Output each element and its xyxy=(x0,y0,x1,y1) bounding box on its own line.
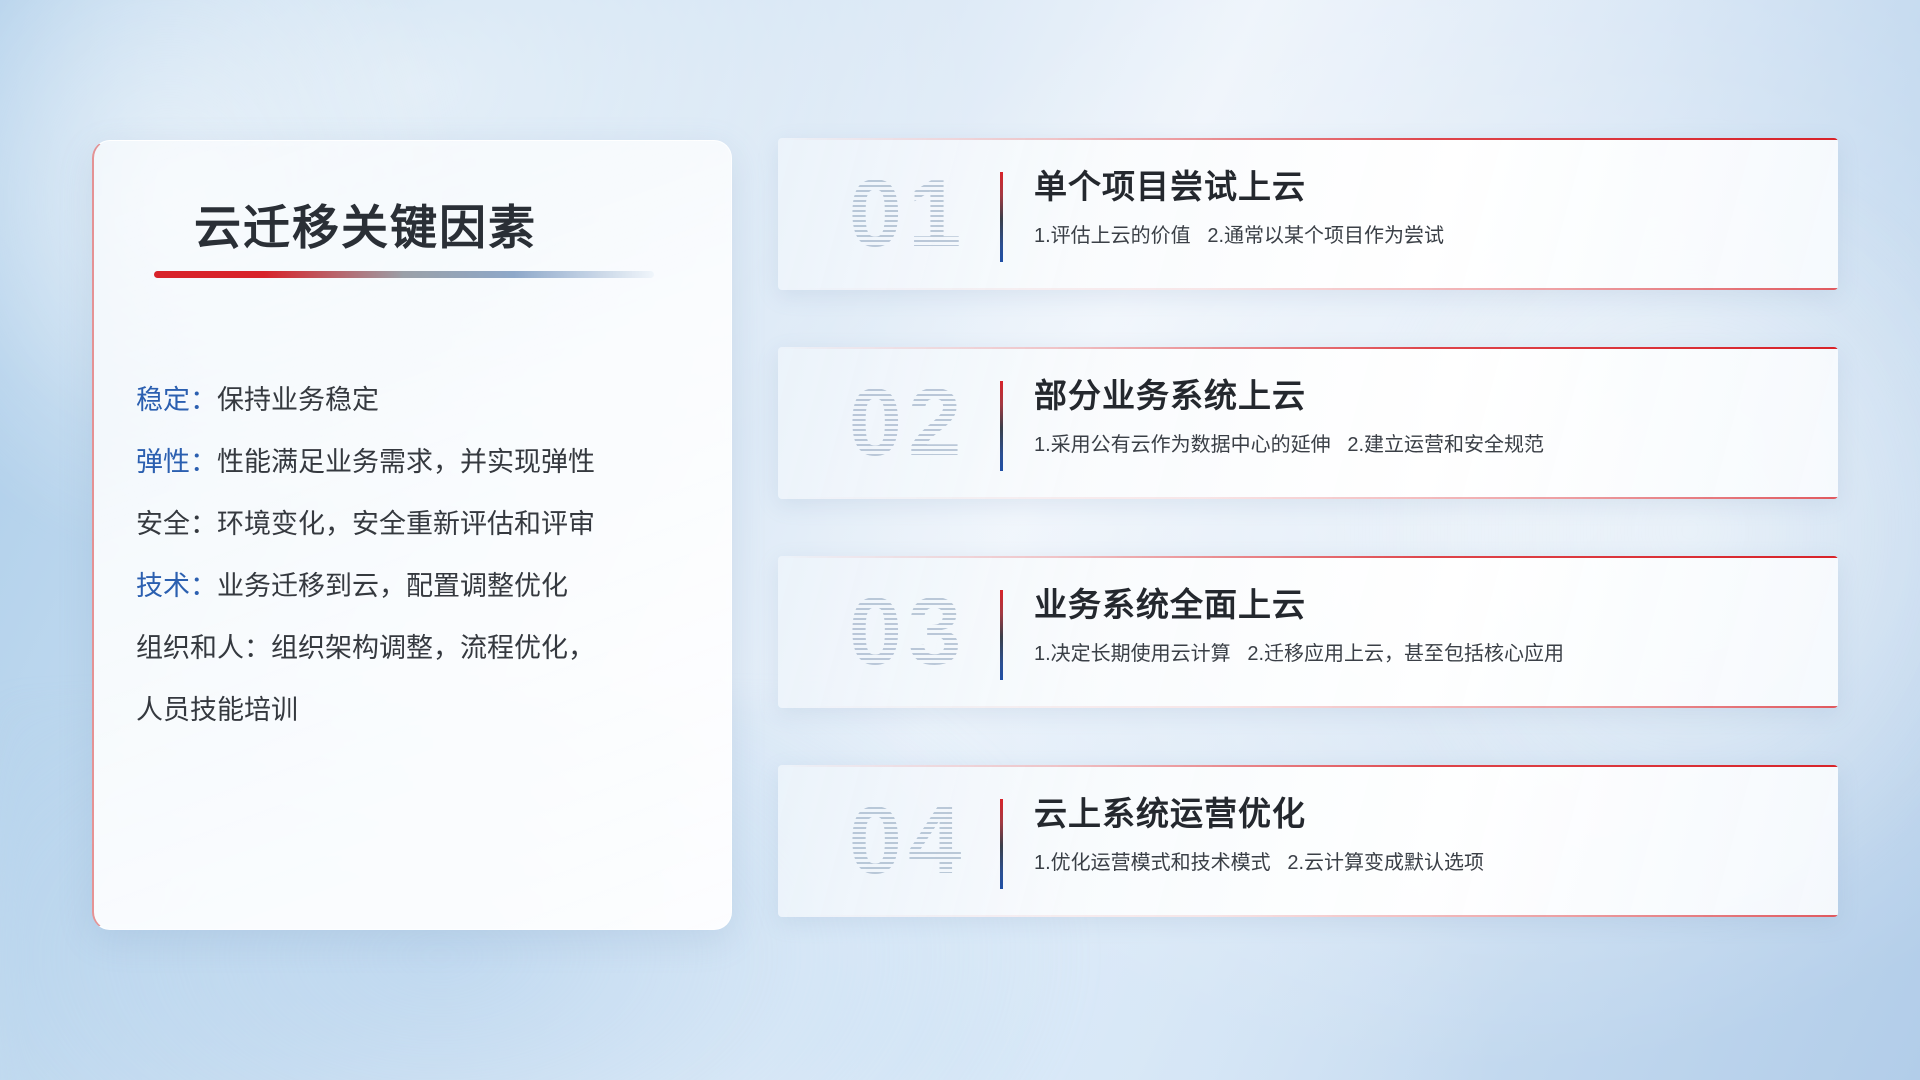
step-number-watermark: 02 xyxy=(808,359,1008,487)
card-bottom-accent-rule xyxy=(778,706,1838,708)
step-description: 1.采用公有云作为数据中心的延伸 2.建立运营和安全规范 xyxy=(1034,431,1814,459)
key-factors-panel: 云迁移关键因素 稳定：保持业务稳定弹性：性能满足业务需求，并实现弹性安全：环境变… xyxy=(92,140,732,930)
card-body: 单个项目尝试上云1.评估上云的价值 2.通常以某个项目作为尝试 xyxy=(1034,164,1814,250)
card-body: 部分业务系统上云1.采用公有云作为数据中心的延伸 2.建立运营和安全规范 xyxy=(1034,373,1814,459)
key-factor-label: 组织和人： xyxy=(136,633,271,663)
key-factor-label: 技术： xyxy=(136,571,217,601)
key-factor-text: 保持业务稳定 xyxy=(217,385,379,415)
key-factor-row: 弹性：性能满足业务需求，并实现弹性 xyxy=(136,431,707,493)
key-factor-label: 弹性： xyxy=(136,447,217,477)
card-divider-bar xyxy=(1000,799,1003,889)
card-body: 业务系统全面上云1.决定长期使用云计算 2.迁移应用上云，甚至包括核心应用 xyxy=(1034,582,1814,668)
step-title: 部分业务系统上云 xyxy=(1034,373,1814,419)
key-factor-label: 安全： xyxy=(136,509,217,539)
key-factor-row: 稳定：保持业务稳定 xyxy=(136,369,707,431)
card-top-accent-rule xyxy=(778,765,1838,767)
key-factor-row: 组织和人：组织架构调整，流程优化， xyxy=(136,617,707,679)
key-factor-text: 组织架构调整，流程优化， xyxy=(271,633,595,663)
card-divider-bar xyxy=(1000,590,1003,680)
step-description: 1.决定长期使用云计算 2.迁移应用上云，甚至包括核心应用 xyxy=(1034,640,1814,668)
step-title: 业务系统全面上云 xyxy=(1034,582,1814,628)
key-factor-row: 安全：环境变化，安全重新评估和评审 xyxy=(136,493,707,555)
step-description: 1.评估上云的价值 2.通常以某个项目作为尝试 xyxy=(1034,222,1814,250)
key-factor-text: 性能满足业务需求，并实现弹性 xyxy=(217,447,595,477)
card-body: 云上系统运营优化1.优化运营模式和技术模式 2.云计算变成默认选项 xyxy=(1034,791,1814,877)
migration-step-card[interactable]: 02部分业务系统上云1.采用公有云作为数据中心的延伸 2.建立运营和安全规范 xyxy=(778,347,1838,499)
key-factors-list: 稳定：保持业务稳定弹性：性能满足业务需求，并实现弹性安全：环境变化，安全重新评估… xyxy=(136,369,707,741)
card-bottom-accent-rule xyxy=(778,915,1838,917)
card-divider-bar xyxy=(1000,172,1003,262)
key-factor-text: 人员技能培训 xyxy=(136,695,298,725)
key-factor-row: 技术：业务迁移到云，配置调整优化 xyxy=(136,555,707,617)
title-underline xyxy=(154,271,654,278)
step-title: 云上系统运营优化 xyxy=(1034,791,1814,837)
step-number-watermark: 03 xyxy=(808,568,1008,696)
card-top-accent-rule xyxy=(778,347,1838,349)
key-factor-label: 稳定： xyxy=(136,385,217,415)
migration-step-card[interactable]: 01单个项目尝试上云1.评估上云的价值 2.通常以某个项目作为尝试 xyxy=(778,138,1838,290)
step-number-watermark: 04 xyxy=(808,777,1008,905)
migration-step-card[interactable]: 03业务系统全面上云1.决定长期使用云计算 2.迁移应用上云，甚至包括核心应用 xyxy=(778,556,1838,708)
step-title: 单个项目尝试上云 xyxy=(1034,164,1814,210)
migration-step-card[interactable]: 04云上系统运营优化1.优化运营模式和技术模式 2.云计算变成默认选项 xyxy=(778,765,1838,917)
key-factor-text: 业务迁移到云，配置调整优化 xyxy=(217,571,568,601)
card-divider-bar xyxy=(1000,381,1003,471)
step-description: 1.优化运营模式和技术模式 2.云计算变成默认选项 xyxy=(1034,849,1814,877)
key-factor-text: 环境变化，安全重新评估和评审 xyxy=(217,509,595,539)
migration-steps-list: 01单个项目尝试上云1.评估上云的价值 2.通常以某个项目作为尝试02部分业务系… xyxy=(778,138,1838,974)
card-top-accent-rule xyxy=(778,138,1838,140)
card-bottom-accent-rule xyxy=(778,288,1838,290)
panel-title: 云迁移关键因素 xyxy=(194,189,537,258)
card-top-accent-rule xyxy=(778,556,1838,558)
card-bottom-accent-rule xyxy=(778,497,1838,499)
key-factor-row: 人员技能培训 xyxy=(136,679,707,741)
step-number-watermark: 01 xyxy=(808,150,1008,278)
